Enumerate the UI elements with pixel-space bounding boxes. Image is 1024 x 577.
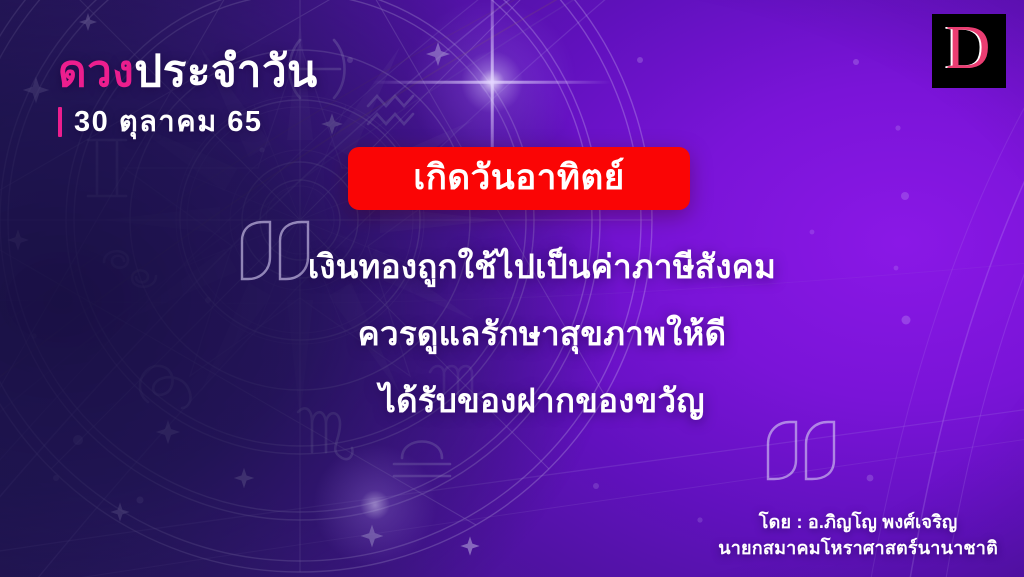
date-text: 30 ตุลาคม 65 [74, 108, 263, 137]
credit-author: โดย : อ.ภิญโญ พงศ์เจริญ [718, 509, 998, 535]
status-badge: เกิดวันอาทิตย์ [348, 147, 690, 210]
page-title: ดวงประจำวัน 30 ตุลาคม 65 [58, 50, 318, 137]
horoscope-card: ดวงประจำวัน 30 ตุลาคม 65 D เกิดวันอาทิตย… [0, 0, 1024, 577]
logo-letter-d: D [946, 17, 991, 79]
horoscope-line-2: ควรดูแลรักษาสุขภาพให้ดี [282, 317, 802, 350]
date-accent-bar [58, 107, 62, 137]
credit-affiliation: นายกสมาคมโหราศาสตร์นานาชาติ [718, 535, 998, 561]
date-line: 30 ตุลาคม 65 [58, 107, 318, 137]
brand-logo[interactable]: D [932, 14, 1006, 88]
title-pink-part: ดวง [58, 47, 134, 96]
title-white-part: ประจำวัน [134, 47, 317, 96]
horoscope-text: เงินทองถูกใช้ไปเป็นค่าภาษีสังคม ควรดูแลร… [282, 250, 802, 417]
badge-label: เกิดวันอาทิตย์ [413, 160, 624, 195]
horoscope-line-1: เงินทองถูกใช้ไปเป็นค่าภาษีสังคม [282, 250, 802, 283]
horoscope-line-3: ได้รับของฝากของขวัญ [282, 384, 802, 417]
author-credit: โดย : อ.ภิญโญ พงศ์เจริญ นายกสมาคมโหราศาส… [718, 509, 998, 561]
quote-close-icon [762, 420, 838, 482]
